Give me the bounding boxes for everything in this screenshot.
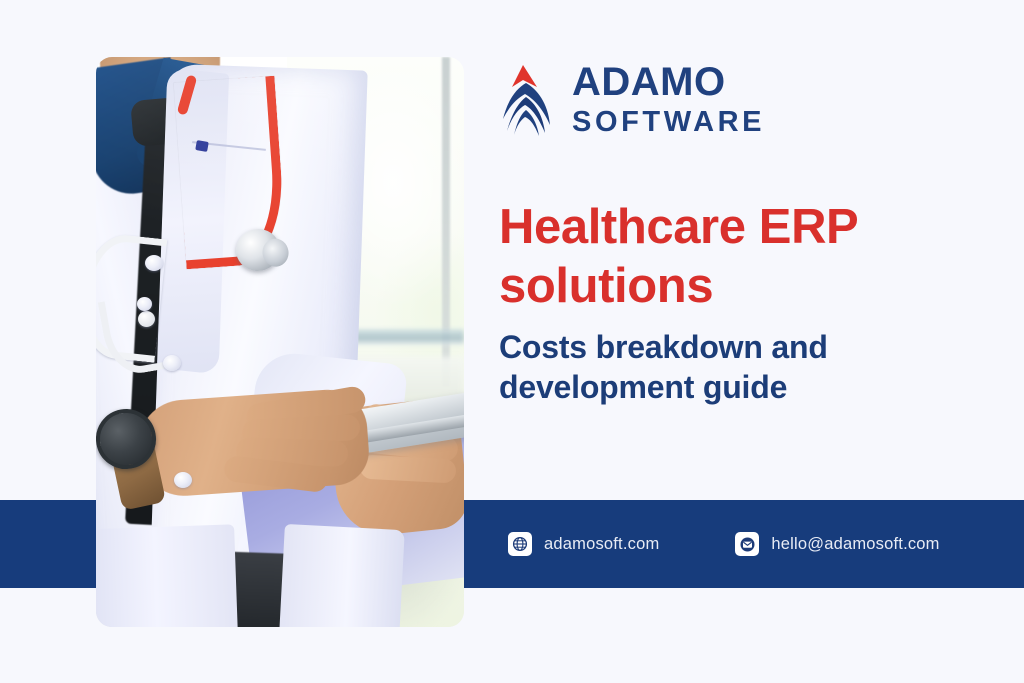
contact-email[interactable]: hello@adamosoft.com xyxy=(735,532,939,556)
subheadline-line-1: Costs breakdown and xyxy=(499,328,929,368)
email-text: hello@adamosoft.com xyxy=(771,535,939,554)
lab-coat-button xyxy=(163,355,181,371)
content-column: ADAMO SOFTWARE Healthcare ERP solutions … xyxy=(496,0,996,500)
envelope-icon xyxy=(735,532,759,556)
logo-wordmark: ADAMO SOFTWARE xyxy=(572,62,765,137)
hero-photo-illustration xyxy=(96,57,464,627)
page-title: Healthcare ERP solutions xyxy=(499,198,929,316)
marketing-banner: ADAMO SOFTWARE Healthcare ERP solutions … xyxy=(0,0,1024,683)
headline-line-1: Healthcare ERP xyxy=(499,198,929,257)
logo-word-software: SOFTWARE xyxy=(572,108,765,137)
lab-coat-hem-left xyxy=(96,524,238,627)
lab-coat-button xyxy=(145,255,163,271)
lab-coat-button xyxy=(174,472,192,488)
subheadline-line-2: development guide xyxy=(499,368,929,408)
lab-coat-button xyxy=(137,297,152,311)
lab-coat-hem-right xyxy=(279,524,405,627)
footer-contacts: adamosoft.com hello@adamosoft.com xyxy=(508,500,940,588)
stethoscope-eartip xyxy=(138,311,155,327)
website-text: adamosoft.com xyxy=(544,535,659,554)
contact-website[interactable]: adamosoft.com xyxy=(508,532,659,556)
headline-line-2: solutions xyxy=(499,257,929,316)
hero-photo xyxy=(96,57,464,627)
adamo-a-mark-icon xyxy=(496,63,554,137)
logo-word-adamo: ADAMO xyxy=(572,62,765,102)
globe-icon xyxy=(508,532,532,556)
adamo-software-logo[interactable]: ADAMO SOFTWARE xyxy=(496,62,765,137)
page-subtitle: Costs breakdown and development guide xyxy=(499,328,929,407)
finger xyxy=(359,455,456,484)
